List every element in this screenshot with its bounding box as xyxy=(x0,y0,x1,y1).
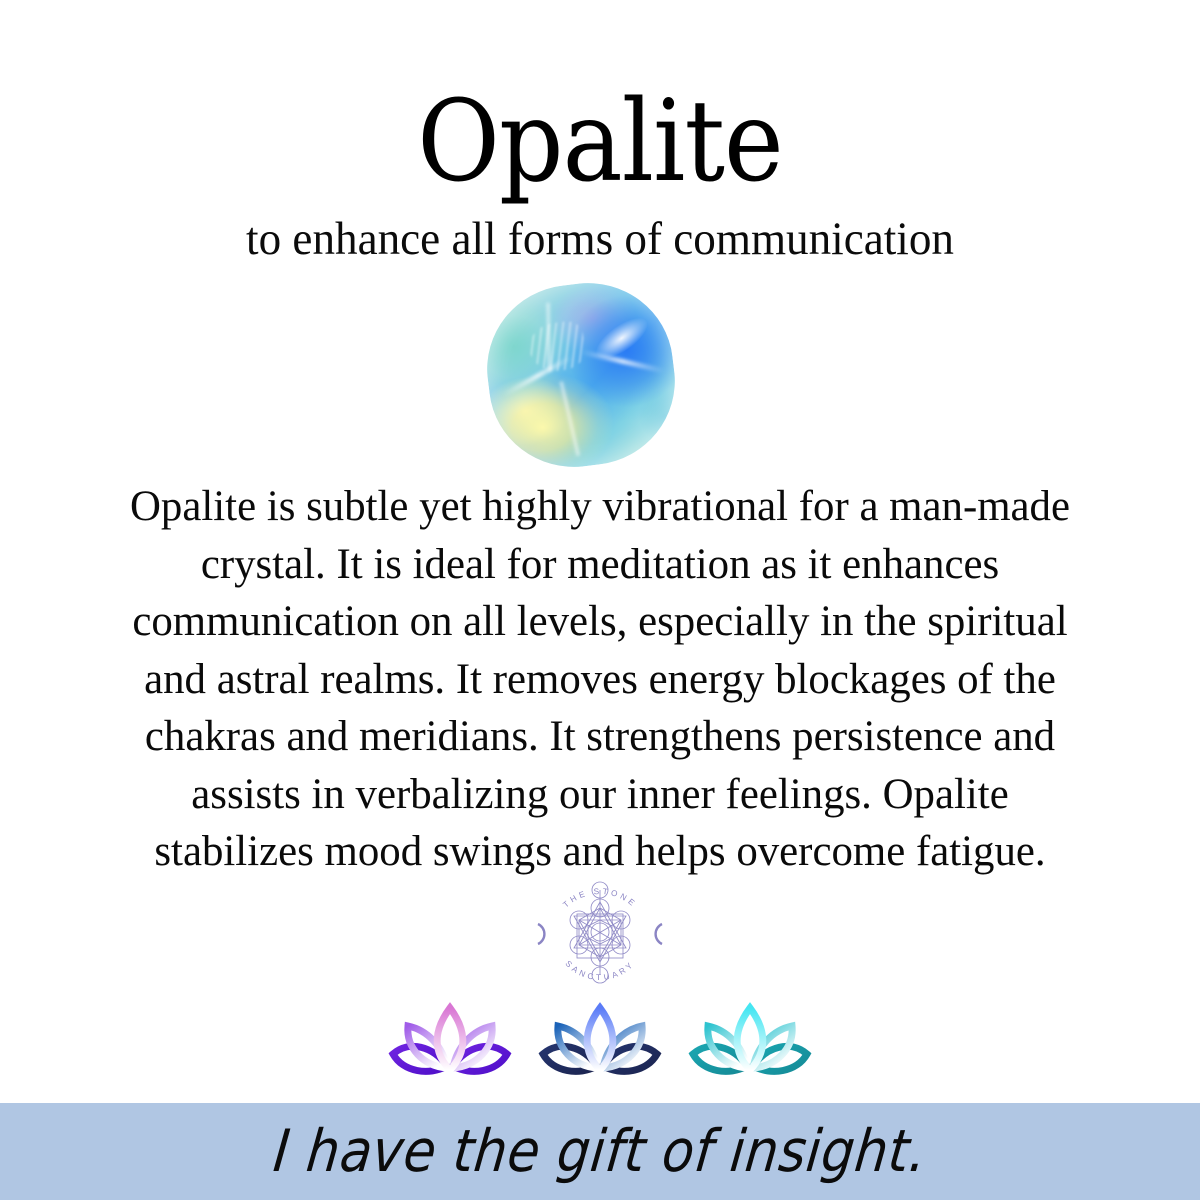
affirmation-text: I have the gift of insight. xyxy=(270,1118,930,1185)
opalite-stone-icon xyxy=(478,273,685,476)
lotus-teal-icon xyxy=(675,1000,825,1084)
opalite-crystal-info-card: Opalite to enhance all forms of communic… xyxy=(0,0,1200,1200)
affirmation-banner: I have the gift of insight. xyxy=(0,1103,1200,1200)
lotus-blue-icon xyxy=(525,1000,675,1084)
page-title: Opalite xyxy=(60,86,1140,198)
crystal-facet-edge xyxy=(580,349,664,373)
lotus-purple-icon xyxy=(375,1000,525,1084)
description-paragraph: Opalite is subtle yet highly vibrational… xyxy=(117,478,1082,881)
crystal-image-container xyxy=(476,276,692,476)
subtitle-tagline: to enhance all forms of communication xyxy=(24,214,1176,266)
crystal-facet-edge xyxy=(559,381,581,457)
crescent-moon-left xyxy=(538,924,544,944)
the-stone-sanctuary-logo-svg: THE STONE SANCTUARY xyxy=(528,872,672,996)
crystal-facet-edge xyxy=(546,302,552,371)
lotus-decoration-row xyxy=(0,998,1200,1084)
brand-logo: THE STONE SANCTUARY xyxy=(528,872,672,996)
crescent-moon-right xyxy=(656,924,662,944)
